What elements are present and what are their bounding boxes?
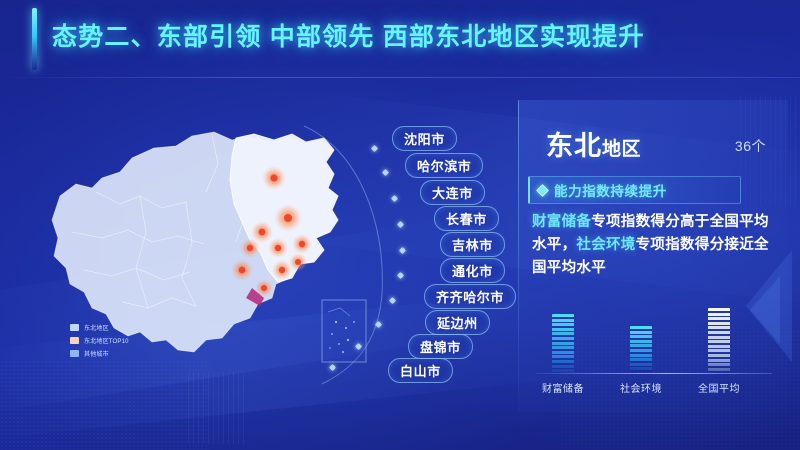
legend-item: 其他城市: [70, 348, 129, 358]
chart-bar[interactable]: [708, 308, 730, 372]
legend-swatch-icon: [70, 337, 79, 344]
diamond-icon: [536, 184, 549, 197]
panel-body-text: 财富储备专项指数得分高于全国平均水平，社会环境专项指数得分接近全国平均水平: [532, 211, 780, 280]
title-accent-bar: [32, 8, 37, 70]
map-legend: 东北地区 东北地区TOP10 其他城市: [70, 322, 129, 361]
panel-subheader: 能力指数持续提升: [528, 176, 741, 204]
chart-x-label: 社会环境: [606, 380, 676, 395]
city-label-pill[interactable]: 吉林市: [440, 232, 505, 257]
region-title: 东北地区: [546, 124, 641, 163]
legend-item: 东北地区: [70, 322, 129, 332]
city-label: 延边州: [437, 313, 478, 332]
city-label: 盘锦市: [420, 337, 461, 356]
chart-bar[interactable]: [630, 326, 652, 372]
page-title: 态势二、东部引领 中部领先 西部东北地区实现提升: [52, 17, 645, 53]
chart-axis-line: [536, 373, 772, 375]
city-label: 通化市: [452, 261, 493, 280]
legend-label: 东北地区: [84, 323, 109, 332]
panel-left-edge: [518, 100, 519, 412]
city-label-pill[interactable]: 哈尔滨市: [405, 153, 483, 178]
slide-header: 态势二、东部引领 中部领先 西部东北地区实现提升: [0, 0, 800, 78]
city-label: 吉林市: [452, 235, 493, 254]
region-detail-panel: 东北地区 36个 能力指数持续提升 财富储备专项指数得分高于全国平均水平，社会环…: [518, 100, 788, 412]
region-title-main: 东北: [546, 131, 602, 161]
chart-bar[interactable]: [552, 314, 574, 372]
legend-label: 东北地区TOP10: [84, 336, 129, 345]
legend-swatch-icon: [70, 350, 79, 357]
city-label-pill[interactable]: 沈阳市: [392, 126, 457, 151]
city-label-pill[interactable]: 白山市: [388, 358, 453, 383]
legend-label: 其他城市: [84, 349, 109, 358]
panel-subheader-label: 能力指数持续提升: [554, 180, 667, 200]
header-divider: [0, 77, 800, 78]
city-label: 沈阳市: [404, 129, 445, 148]
body-highlight-1: 财富储备: [532, 214, 591, 230]
city-label-pill[interactable]: 延边州: [425, 310, 490, 335]
region-count-badge: 36个: [735, 136, 766, 156]
city-label: 长春市: [446, 209, 487, 228]
city-label: 齐齐哈尔市: [436, 287, 504, 306]
legend-swatch-icon: [70, 324, 79, 331]
city-label-pill[interactable]: 大连市: [420, 180, 485, 205]
city-label: 大连市: [432, 183, 473, 202]
region-title-suffix: 地区: [602, 139, 641, 160]
city-label-pill[interactable]: 通化市: [440, 258, 505, 283]
city-label-pill[interactable]: 长春市: [434, 206, 499, 231]
chart-x-label: 全国平均: [684, 380, 754, 395]
slide-canvas: 态势二、东部引领 中部领先 西部东北地区实现提升: [0, 0, 800, 450]
body-highlight-2: 社会环境: [576, 237, 635, 253]
city-label-pill[interactable]: 齐齐哈尔市: [424, 284, 516, 309]
city-label: 哈尔滨市: [417, 156, 471, 175]
legend-item: 东北地区TOP10: [70, 335, 129, 345]
south-china-sea-inset: [322, 300, 366, 362]
city-label: 白山市: [400, 361, 441, 380]
index-bar-chart: 财富储备社会环境全国平均: [530, 286, 778, 398]
city-label-pill[interactable]: 盘锦市: [408, 334, 473, 359]
chart-x-label: 财富储备: [528, 380, 598, 395]
